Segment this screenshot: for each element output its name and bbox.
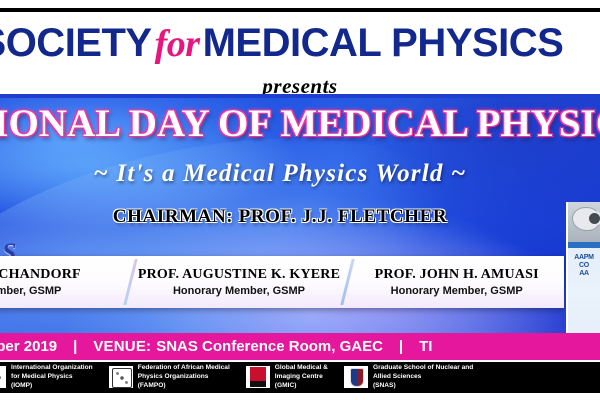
sponsor-line3: (FAMPO) — [138, 382, 230, 391]
event-banner: A SOCIETYforMEDICAL PHYSICS presents ATI… — [0, 0, 600, 400]
sponsor-item: Global Medical & Imaging Centre (GMIC) — [246, 364, 328, 391]
speaker-role: Member, GSMP — [0, 285, 125, 297]
poster-logo-line1: AAPM — [574, 254, 593, 261]
time-label: TI — [419, 338, 432, 355]
organization-title: A SOCIETYforMEDICAL PHYSICS — [0, 23, 563, 63]
sponsor-item: International Organization for Medical P… — [0, 364, 93, 391]
info-separator-2: | — [383, 338, 419, 355]
event-tagline: ~ It's a Medical Physics World ~ — [0, 160, 560, 188]
poster-logo-line3: AA — [579, 270, 589, 277]
event-headline: ATIONAL DAY OF MEDICAL PHYSICS- 2019 — [0, 104, 600, 143]
venue-value: SNAS Conference Room, GAEC — [156, 338, 383, 355]
atom-fampo-icon — [109, 366, 133, 388]
speaker-role: Honorary Member, GSMP — [136, 285, 343, 297]
sponsor-text: International Organization for Medical P… — [11, 364, 93, 391]
ultrasound-probe-icon — [572, 207, 600, 231]
speaker-name: PROF. JOHN H. AMUASI — [353, 267, 560, 283]
event-date: y, 7th November 2019 — [0, 338, 57, 355]
poster-accent-band — [568, 242, 600, 248]
speaker-card: RIL SCHANDORF Member, GSMP — [0, 267, 129, 297]
sponsor-text: Federation of African Medical Physics Or… — [138, 364, 230, 391]
shield-snas-icon — [344, 366, 368, 388]
sponsor-strip: International Organization for Medical P… — [0, 362, 600, 393]
poster-thumbnail: AAPM CO AA IT'S 86 M C — [566, 202, 600, 333]
sponsor-list: International Organization for Medical P… — [0, 364, 489, 391]
gmic-icon — [246, 366, 270, 388]
poster-logo-text: AAPM CO AA — [568, 254, 600, 278]
sponsor-line2: Allied Sciences — [373, 373, 473, 382]
speaker-card: PROF. JOHN H. AMUASI Honorary Member, GS… — [349, 267, 564, 297]
speaker-role: Honorary Member, GSMP — [353, 285, 560, 297]
hero-stage: ATIONAL DAY OF MEDICAL PHYSICS- 2019 ~ I… — [0, 98, 600, 333]
speaker-card: PROF. AUGUSTINE K. KYERE Honorary Member… — [132, 267, 347, 297]
event-info-content: y, 7th November 2019 | VENUE: SNAS Confe… — [0, 338, 432, 355]
venue-label: VENUE: — [93, 338, 151, 355]
sponsor-item: Graduate School of Nuclear and Allied Sc… — [344, 364, 473, 391]
event-info-bar: y, 7th November 2019 | VENUE: SNAS Confe… — [0, 333, 600, 360]
sponsor-text: Graduate School of Nuclear and Allied Sc… — [373, 364, 473, 391]
sponsor-line2: for Medical Physics — [11, 373, 93, 382]
sponsor-line1: Federation of African Medical — [138, 364, 230, 373]
presents-strip: presents — [0, 74, 600, 100]
speaker-name: PROF. AUGUSTINE K. KYERE — [136, 267, 343, 283]
sponsor-text: Global Medical & Imaging Centre (GMIC) — [275, 364, 328, 391]
poster-photo — [568, 202, 600, 242]
masthead: A SOCIETYforMEDICAL PHYSICS — [0, 12, 600, 74]
sponsor-line3: (GMIC) — [275, 382, 328, 391]
org-title-part1: A SOCIETY — [0, 21, 152, 65]
org-title-part2: MEDICAL PHYSICS — [203, 21, 564, 65]
sponsor-line1: International Organization — [11, 364, 93, 373]
sponsor-line2: Imaging Centre — [275, 373, 328, 382]
sponsor-line3: (SNAS) — [373, 382, 473, 391]
sponsor-line1: Global Medical & — [275, 364, 328, 373]
org-title-for: for — [152, 23, 203, 65]
info-separator-1: | — [57, 338, 93, 355]
sponsor-item: Federation of African Medical Physics Or… — [109, 364, 230, 391]
poster-logo-line2: CO — [579, 262, 589, 269]
chairman-line: CHAIRMAN: PROF. J.J. FLETCHER — [0, 206, 560, 228]
event-headline-main: ATIONAL DAY OF MEDICAL PHYSICS — [0, 102, 600, 145]
speaker-name: RIL SCHANDORF — [0, 267, 125, 283]
sponsor-line1: Graduate School of Nuclear and — [373, 364, 473, 373]
sponsor-line2: Physics Organizations — [138, 373, 230, 382]
globe-iomp-icon — [0, 366, 6, 388]
sponsor-line3: (IOMP) — [11, 382, 93, 391]
bottom-margin — [0, 393, 600, 400]
speakers-panel: RIL SCHANDORF Member, GSMP PROF. AUGUSTI… — [0, 256, 564, 308]
